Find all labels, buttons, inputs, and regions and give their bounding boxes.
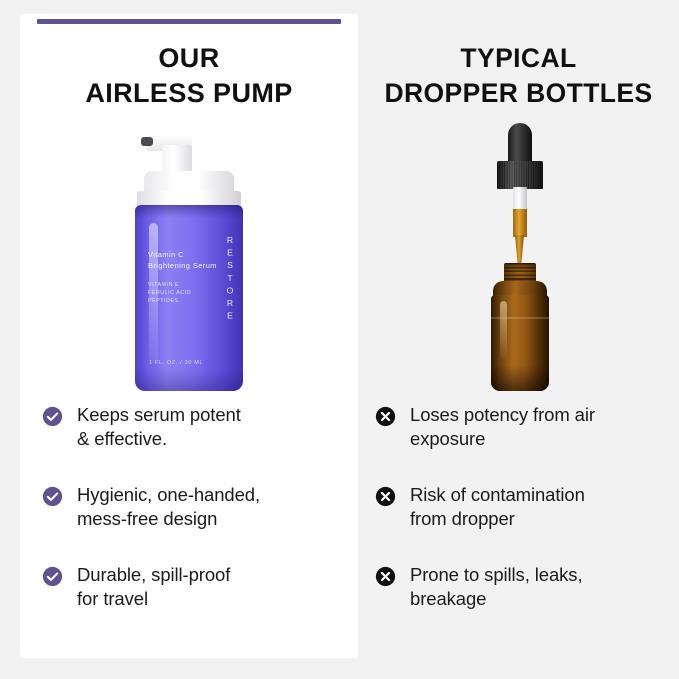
list-item-label: Hygienic, one-handed, mess-free design (77, 483, 260, 531)
dropper-pipette-tip (515, 235, 524, 263)
comparison-infographic: OUR AIRLESS PUMP Vitamin C Brightening S… (0, 0, 679, 679)
product-label-ingredients: VITAMIN E FERULIC ACID PEPTIDES (148, 281, 220, 306)
right-column-title: TYPICAL DROPPER BOTTLES (358, 41, 679, 111)
list-item: Hygienic, one-handed, mess-free design (42, 483, 332, 531)
check-circle-icon (42, 486, 63, 507)
list-item: Durable, spill-proof for travel (42, 563, 332, 611)
amber-bottle-body (491, 295, 549, 391)
left-product-stage: Vitamin C Brightening Serum VITAMIN E FE… (20, 115, 358, 395)
list-item: Prone to spills, leaks, breakage (375, 563, 665, 611)
x-circle-icon (375, 486, 396, 507)
bottle-highlight (500, 301, 507, 359)
right-bullet-list: Loses potency from air exposure Risk of … (358, 403, 679, 611)
product-label-name: Vitamin C Brightening Serum (148, 249, 220, 272)
x-circle-icon (375, 406, 396, 427)
product-volume: 1 FL. OZ. / 30 ML (149, 360, 203, 366)
airless-pump-bottle-image: Vitamin C Brightening Serum VITAMIN E FE… (114, 115, 264, 395)
dropper-bottle-image (444, 115, 594, 395)
bottle-fill-line (491, 317, 549, 319)
column-our-airless-pump: OUR AIRLESS PUMP Vitamin C Brightening S… (20, 0, 358, 679)
list-item-label: Risk of contamination from dropper (410, 483, 585, 531)
product-brand-name: RESTORE (225, 235, 235, 323)
check-circle-icon (42, 566, 63, 587)
left-bullet-list: Keeps serum potent & effective. Hygienic… (20, 403, 358, 611)
dropper-cap (497, 161, 543, 189)
x-circle-icon (375, 566, 396, 587)
left-column-title: OUR AIRLESS PUMP (20, 41, 358, 111)
dropper-serum-fill (513, 209, 527, 237)
right-product-stage (358, 115, 679, 395)
product-label: Vitamin C Brightening Serum VITAMIN E FE… (148, 249, 220, 305)
pump-bottle-body: Vitamin C Brightening Serum VITAMIN E FE… (135, 205, 243, 391)
list-item: Keeps serum potent & effective. (42, 403, 332, 451)
list-item-label: Loses potency from air exposure (410, 403, 595, 451)
pump-nozzle-tip (141, 137, 153, 146)
list-item-label: Prone to spills, leaks, breakage (410, 563, 583, 611)
list-item-label: Durable, spill-proof for travel (77, 563, 230, 611)
column-typical-dropper-bottles: TYPICAL DROPPER BOTTLES (358, 0, 679, 679)
check-circle-icon (42, 406, 63, 427)
list-item-label: Keeps serum potent & effective. (77, 403, 241, 451)
list-item: Loses potency from air exposure (375, 403, 665, 451)
list-item: Risk of contamination from dropper (375, 483, 665, 531)
